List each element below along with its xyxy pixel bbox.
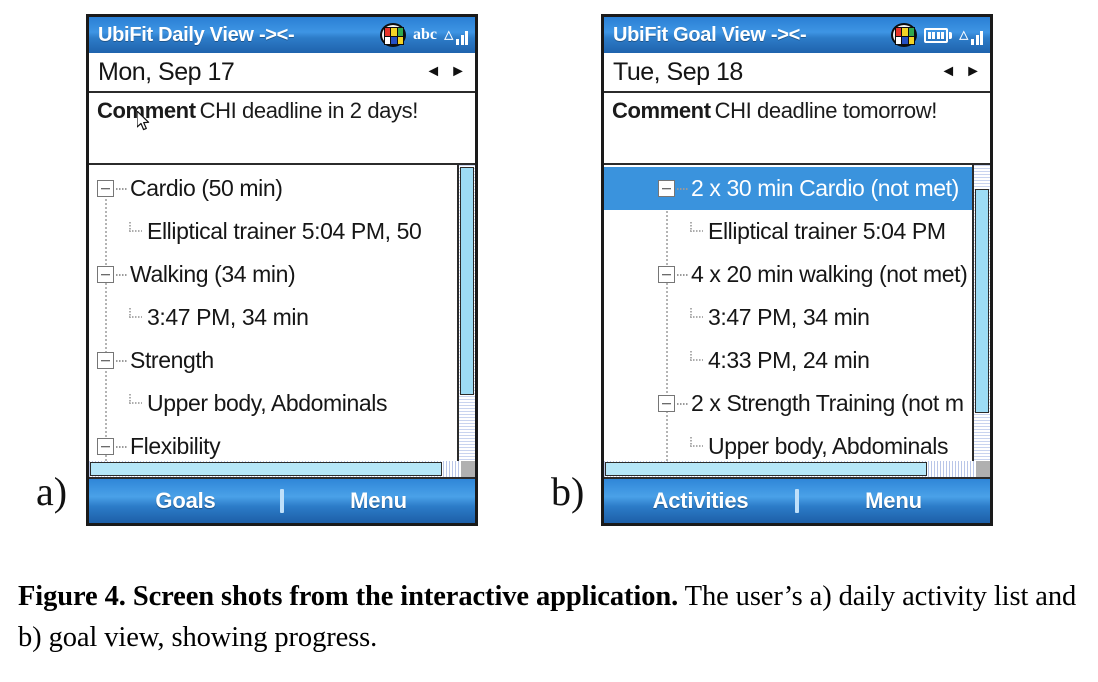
tree-row-label: Upper body, Abdominals [708, 433, 948, 460]
comment-line-a: CommentCHI deadline in 2 days! [97, 98, 467, 124]
tree-connector-icon [127, 308, 143, 322]
current-date-a: Mon, Sep 17 [98, 58, 234, 87]
scrollbar-thumb[interactable] [975, 189, 989, 413]
tree-row-label: 3:47 PM, 34 min [147, 304, 308, 331]
tree-connector-icon [127, 394, 143, 408]
tree-row-child[interactable]: Upper body, Abdominals [89, 382, 475, 425]
figure-label-b: b) [551, 472, 584, 512]
comment-label-a: Comment [97, 98, 196, 123]
tree-connector-icon [116, 360, 127, 362]
comment-block-a[interactable]: CommentCHI deadline in 2 days! [89, 93, 475, 165]
date-row-a: Mon, Sep 17 ◄ ► [89, 53, 475, 93]
figure-caption: Figure 4. Screen shots from the interact… [18, 576, 1080, 658]
tree-row-parent[interactable]: 2 x Strength Training (not m [604, 382, 990, 425]
collapse-toggle-icon[interactable] [658, 395, 675, 412]
figure-caption-bold: Figure 4. Screen shots from the interact… [18, 581, 678, 612]
battery-icon[interactable] [924, 28, 952, 43]
comment-block-b[interactable]: CommentCHI deadline tomorrow! [604, 93, 990, 165]
scrollbar-corner [976, 461, 990, 477]
activity-list-a[interactable]: Cardio (50 min) Elliptical trainer 5:04 … [89, 165, 475, 479]
tree-row-label: 4 x 20 min walking (not met) [691, 261, 967, 288]
collapse-toggle-icon[interactable] [97, 180, 114, 197]
ubifit-garden-icon[interactable] [891, 22, 917, 48]
tree-row-label: Walking (34 min) [130, 261, 295, 288]
date-nav-arrows-a[interactable]: ◄ ► [425, 64, 466, 80]
prev-day-icon[interactable]: ◄ [425, 64, 441, 80]
softkey-menu[interactable]: Menu [797, 488, 990, 514]
tree-row-label: Elliptical trainer 5:04 PM [708, 218, 946, 245]
softkey-bar-b: Activities Menu [604, 479, 990, 523]
tree-row-label: 4:33 PM, 24 min [708, 347, 869, 374]
next-day-icon[interactable]: ► [450, 64, 466, 80]
tree-row-parent[interactable]: 4 x 20 min walking (not met) [604, 253, 990, 296]
titlebar-goal-view: UbiFit Goal View -><- [604, 17, 990, 53]
tree-row-child[interactable]: 3:47 PM, 34 min [89, 296, 475, 339]
tree-row-child[interactable]: Upper body, Abdominals [604, 425, 990, 461]
window-title-goal-view: UbiFit Goal View -><- [613, 24, 806, 47]
window-title-daily-view: UbiFit Daily View -><- [98, 24, 294, 47]
tree-row-child[interactable]: Elliptical trainer 5:04 PM, 50 [89, 210, 475, 253]
collapse-toggle-icon[interactable] [97, 266, 114, 283]
tree-row-label: 2 x 30 min Cardio (not met) [691, 175, 959, 202]
next-day-icon[interactable]: ► [965, 64, 981, 80]
softkey-menu[interactable]: Menu [282, 488, 475, 514]
tree-row-label: 3:47 PM, 34 min [708, 304, 869, 331]
tree-connector-icon [688, 222, 704, 236]
tree-row-label: Upper body, Abdominals [147, 390, 387, 417]
device-screen-daily-view: UbiFit Daily View -><- abc [86, 14, 478, 526]
titlebar-daily-view: UbiFit Daily View -><- abc [89, 17, 475, 53]
tree-row-parent[interactable]: Strength [89, 339, 475, 382]
tree-row-label: Flexibility [130, 433, 220, 460]
collapse-toggle-icon[interactable] [97, 352, 114, 369]
titlebar-icon-group: ▵ [891, 22, 983, 48]
softkey-goals[interactable]: Goals [89, 488, 282, 514]
figure-label-a: a) [36, 472, 67, 512]
tree-row-label: 2 x Strength Training (not m [691, 390, 964, 417]
figure-container: a) UbiFit Daily View -><- [0, 0, 1098, 682]
tree-row-label: Cardio (50 min) [130, 175, 283, 202]
goal-list-rows-b: 2 x 30 min Cardio (not met) Elliptical t… [604, 167, 990, 461]
tree-row-label: Elliptical trainer 5:04 PM, 50 [147, 218, 421, 245]
tree-connector-icon [688, 351, 704, 365]
tree-connector-icon [127, 222, 143, 236]
softkey-divider [280, 489, 284, 513]
scrollbar-thumb[interactable] [460, 167, 474, 395]
softkey-bar-a: Goals Menu [89, 479, 475, 523]
tree-connector-icon [116, 274, 127, 276]
tree-connector-icon [677, 188, 688, 190]
tree-connector-icon [116, 446, 127, 448]
softkey-divider [795, 489, 799, 513]
device-screen-goal-view: UbiFit Goal View -><- [601, 14, 993, 526]
scrollbar-thumb[interactable] [605, 462, 927, 476]
goal-list-b[interactable]: 2 x 30 min Cardio (not met) Elliptical t… [604, 165, 990, 479]
scrollbar-corner [461, 461, 475, 477]
collapse-toggle-icon[interactable] [97, 438, 114, 455]
tree-connector-icon [677, 403, 688, 405]
vertical-scrollbar-a[interactable] [457, 165, 475, 461]
signal-icon[interactable]: ▵ [959, 24, 983, 46]
screenshot-panel-b: UbiFit Goal View -><- [601, 14, 993, 526]
tree-row-parent[interactable]: Cardio (50 min) [89, 167, 475, 210]
current-date-b: Tue, Sep 18 [613, 58, 743, 87]
comment-label-b: Comment [612, 98, 711, 123]
screenshot-panel-a: UbiFit Daily View -><- abc [86, 14, 478, 526]
activity-list-rows-a: Cardio (50 min) Elliptical trainer 5:04 … [89, 167, 475, 461]
comment-line-b: CommentCHI deadline tomorrow! [612, 98, 982, 124]
horizontal-scrollbar-b[interactable] [604, 461, 990, 477]
scrollbar-thumb[interactable] [90, 462, 442, 476]
signal-icon[interactable]: ▵ [444, 24, 468, 46]
collapse-toggle-icon[interactable] [658, 180, 675, 197]
comment-value-a: CHI deadline in 2 days! [200, 98, 418, 123]
titlebar-icon-group: abc ▵ [380, 22, 468, 48]
date-nav-arrows-b[interactable]: ◄ ► [940, 64, 981, 80]
tree-connector-icon [116, 188, 127, 190]
tree-row-child[interactable]: 3:47 PM, 34 min [604, 296, 990, 339]
ubifit-garden-icon[interactable] [380, 22, 406, 48]
collapse-toggle-icon[interactable] [658, 266, 675, 283]
tree-row-label: Strength [130, 347, 214, 374]
tree-row-parent-selected[interactable]: 2 x 30 min Cardio (not met) [604, 167, 990, 210]
comment-value-b: CHI deadline tomorrow! [715, 98, 937, 123]
prev-day-icon[interactable]: ◄ [940, 64, 956, 80]
tree-connector-icon [688, 308, 704, 322]
tree-row-child[interactable]: Elliptical trainer 5:04 PM [604, 210, 990, 253]
tree-row-parent[interactable]: Walking (34 min) [89, 253, 475, 296]
tree-connector-icon [688, 437, 704, 451]
date-row-b: Tue, Sep 18 ◄ ► [604, 53, 990, 93]
horizontal-scrollbar-a[interactable] [89, 461, 475, 477]
softkey-activities[interactable]: Activities [604, 488, 797, 514]
abc-input-icon[interactable]: abc [413, 26, 437, 44]
tree-connector-icon [677, 274, 688, 276]
vertical-scrollbar-b[interactable] [972, 165, 990, 461]
tree-row-child[interactable]: 4:33 PM, 24 min [604, 339, 990, 382]
tree-row-parent[interactable]: Flexibility [89, 425, 475, 461]
